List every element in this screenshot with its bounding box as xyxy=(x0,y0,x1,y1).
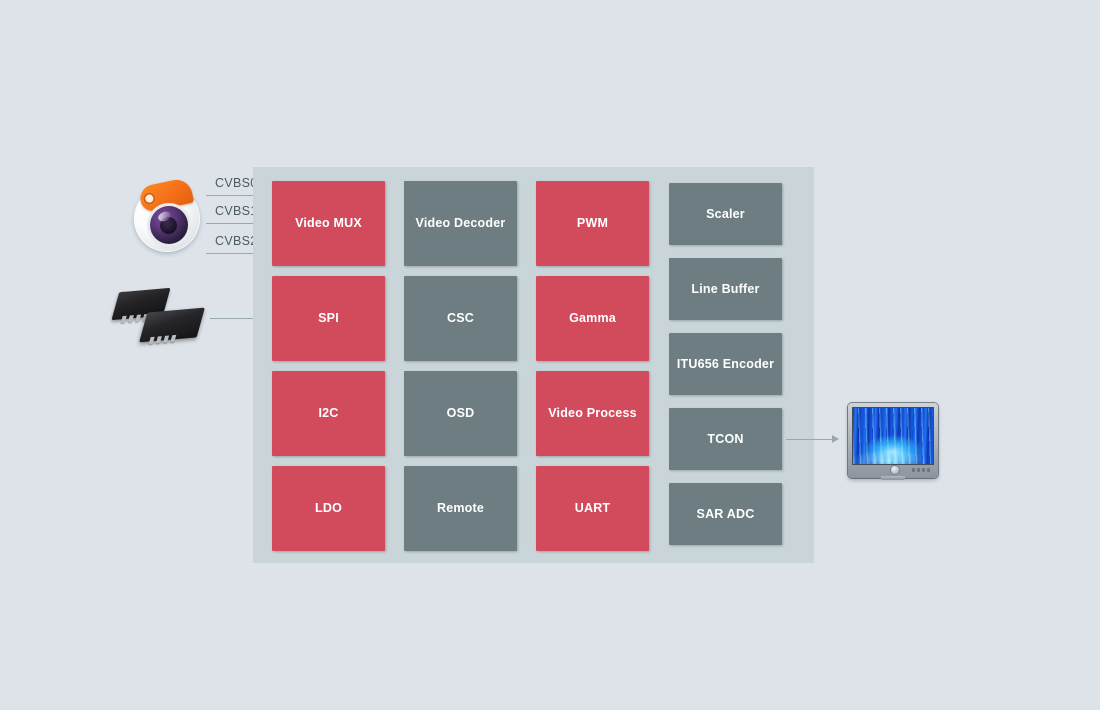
ic-chip-bottom-pins xyxy=(149,335,177,344)
ic-chip-icon xyxy=(112,288,212,350)
block-spi[interactable]: SPI xyxy=(272,276,385,361)
monitor-control-strip xyxy=(853,466,933,474)
block-tcon[interactable]: TCON xyxy=(669,408,782,470)
block-video-process[interactable]: Video Process xyxy=(536,371,649,456)
block-csc[interactable]: CSC xyxy=(404,276,517,361)
block-sar-adc[interactable]: SAR ADC xyxy=(669,483,782,545)
connector-line-tcon-to-display xyxy=(786,439,834,440)
block-i2c[interactable]: I2C xyxy=(272,371,385,456)
lcd-monitor-icon xyxy=(848,403,938,478)
signal-label-cvbs1: CVBS1 xyxy=(215,204,258,218)
block-video-decoder[interactable]: Video Decoder xyxy=(404,181,517,266)
signal-label-cvbs0: CVBS0 xyxy=(215,176,258,190)
camera-lens xyxy=(150,206,188,244)
camera-icon xyxy=(132,176,202,254)
block-ldo[interactable]: LDO xyxy=(272,466,385,551)
block-pwm[interactable]: PWM xyxy=(536,181,649,266)
monitor-osd-buttons[interactable] xyxy=(912,468,930,472)
monitor-screen xyxy=(853,408,933,464)
signal-label-cvbs2: CVBS2 xyxy=(215,234,258,248)
monitor-power-button[interactable] xyxy=(891,466,899,474)
diagram-canvas: CVBS0 CVBS1 CVBS2 Video MUX SPI I2C LDO … xyxy=(0,0,1100,710)
block-video-mux[interactable]: Video MUX xyxy=(272,181,385,266)
monitor-stand xyxy=(881,476,905,480)
block-scaler[interactable]: Scaler xyxy=(669,183,782,245)
arrow-head-tcon-to-display xyxy=(832,435,839,443)
block-line-buffer[interactable]: Line Buffer xyxy=(669,258,782,320)
block-gamma[interactable]: Gamma xyxy=(536,276,649,361)
block-uart[interactable]: UART xyxy=(536,466,649,551)
monitor-wallpaper xyxy=(853,408,933,464)
block-remote[interactable]: Remote xyxy=(404,466,517,551)
block-itu656-encoder[interactable]: ITU656 Encoder xyxy=(669,333,782,395)
block-osd[interactable]: OSD xyxy=(404,371,517,456)
